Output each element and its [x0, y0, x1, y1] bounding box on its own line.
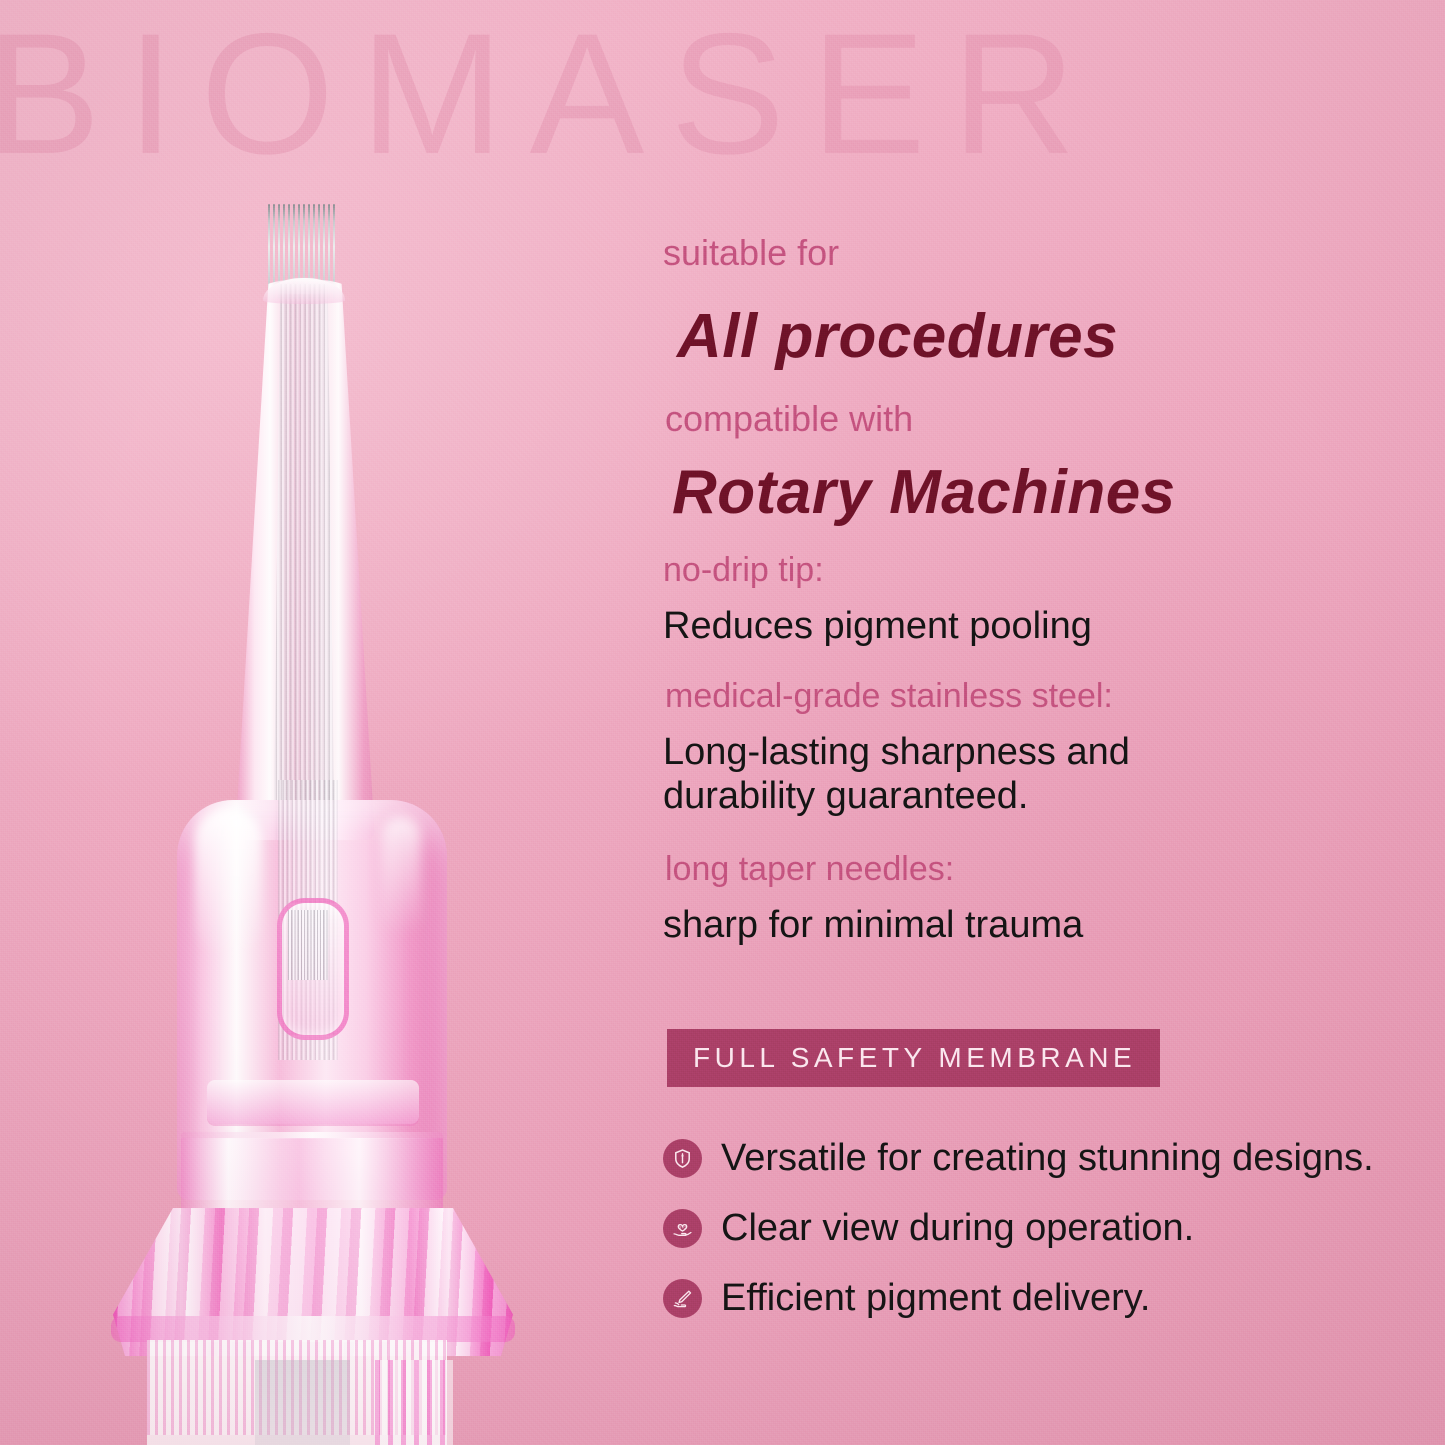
list-item-label: Clear view during operation.: [721, 1208, 1194, 1250]
feature-text-no-drip-tip: Reduces pigment pooling: [663, 604, 1092, 648]
suitable-for-kicker: suitable for: [663, 234, 839, 272]
infographic-canvas: BIOMASER suitable for Al: [0, 0, 1445, 1445]
membrane-benefit-list: Versatile for creating stunning designs.…: [663, 1138, 1423, 1347]
safety-membrane-window-detail: [288, 910, 328, 980]
feature-text-stainless-steel-line1: Long-lasting sharpness and: [663, 730, 1130, 774]
shield-icon: [663, 1139, 702, 1178]
full-safety-membrane-banner: FULL SAFETY MEMBRANE: [667, 1029, 1160, 1087]
cartridge-base-stub-core: [255, 1360, 350, 1445]
cartridge-base-stub-bars: [375, 1360, 453, 1445]
cartridge-inner-needle-shaft: [271, 284, 337, 840]
compatible-with-value: Rotary Machines: [672, 460, 1176, 525]
content-column: suitable for All procedures compatible w…: [663, 0, 1423, 1445]
feature-label-stainless-steel: medical-grade stainless steel:: [665, 677, 1113, 715]
cartridge-highlight-left: [195, 808, 261, 958]
hand-pen-icon: [663, 1279, 702, 1318]
list-item: Efficient pigment delivery.: [663, 1278, 1423, 1320]
list-item: Versatile for creating stunning designs.: [663, 1138, 1423, 1180]
list-item: STO Clear view during operation.: [663, 1208, 1423, 1250]
cartridge-lower-body: [181, 1138, 443, 1220]
cartridge-skirt-rim: [111, 1316, 515, 1342]
feature-text-stainless-steel: Long-lasting sharpness and durability gu…: [663, 730, 1130, 818]
feature-label-no-drip-tip: no-drip tip:: [663, 551, 824, 589]
product-image-needle-cartridge: [85, 180, 565, 1445]
cartridge-highlight-right: [381, 816, 421, 936]
list-item-label: Efficient pigment delivery.: [721, 1278, 1150, 1320]
feature-label-long-taper: long taper needles:: [665, 850, 954, 888]
suitable-for-value: All procedures: [677, 304, 1118, 369]
hand-sterile-icon: STO: [663, 1209, 702, 1248]
cartridge-collar: [207, 1080, 419, 1124]
svg-text:STO: STO: [679, 1226, 686, 1230]
list-item-label: Versatile for creating stunning designs.: [721, 1138, 1374, 1180]
feature-text-long-taper: sharp for minimal trauma: [663, 903, 1083, 947]
feature-text-stainless-steel-line2: durability guaranteed.: [663, 774, 1130, 818]
full-safety-membrane-banner-wrap: FULL SAFETY MEMBRANE: [667, 1029, 1160, 1087]
compatible-with-kicker: compatible with: [665, 400, 913, 438]
